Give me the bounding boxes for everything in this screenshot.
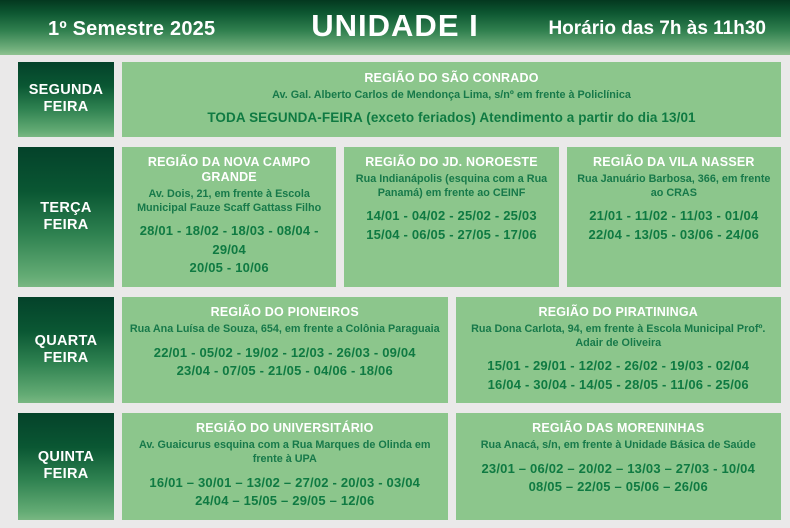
- wednesday-cells: REGIÃO DO PIONEIROS Rua Ana Luísa de Sou…: [122, 297, 781, 404]
- schedule-row-wednesday: QUARTA FEIRA REGIÃO DO PIONEIROS Rua Ana…: [18, 297, 781, 404]
- location-title: REGIÃO DO PIRATININGA: [538, 305, 698, 320]
- location-address: Rua Dona Carlota, 94, em frente à Escola…: [462, 323, 776, 351]
- location-title: REGIÃO DAS MORENINHAS: [532, 421, 704, 436]
- location-card[interactable]: REGIÃO DAS MORENINHAS Rua Anacá, s/n, em…: [456, 413, 782, 520]
- location-card[interactable]: REGIÃO DA VILA NASSER Rua Januário Barbo…: [567, 147, 781, 287]
- location-note: TODA SEGUNDA-FEIRA (exceto feriados) Ate…: [207, 109, 695, 128]
- location-card[interactable]: REGIÃO DO PIRATININGA Rua Dona Carlota, …: [456, 297, 782, 404]
- location-title: REGIÃO DO PIONEIROS: [211, 305, 359, 320]
- location-title: REGIÃO DO UNIVERSITÁRIO: [196, 421, 374, 436]
- location-card[interactable]: REGIÃO DO JD. NOROESTE Rua Indianápolis …: [344, 147, 558, 287]
- dates-line: 23/04 - 07/05 - 21/05 - 04/06 - 18/06: [154, 362, 416, 380]
- location-address: Av. Guaicurus esquina com a Rua Marques …: [128, 439, 442, 467]
- dates-line: 23/01 – 06/02 – 20/02 – 13/03 – 27/03 - …: [481, 460, 755, 478]
- dates-line: 15/04 - 06/05 - 27/05 - 17/06: [366, 226, 537, 244]
- location-address: Rua Ana Luísa de Souza, 654, em frente a…: [130, 323, 440, 337]
- location-card[interactable]: REGIÃO DO SÃO CONRADO Av. Gal. Alberto C…: [122, 62, 781, 137]
- schedule-row-tuesday: TERÇA FEIRA REGIÃO DA NOVA CAMPO GRANDE …: [18, 147, 781, 287]
- location-dates: 23/01 – 06/02 – 20/02 – 13/03 – 27/03 - …: [481, 460, 755, 497]
- location-dates: 16/01 – 30/01 – 13/02 – 27/02 - 20/03 - …: [149, 474, 420, 511]
- day-label-line1: QUARTA: [35, 333, 98, 350]
- location-title: REGIÃO DO JD. NOROESTE: [365, 155, 537, 170]
- dates-line: 14/01 - 04/02 - 25/02 - 25/03: [366, 207, 537, 225]
- location-address: Rua Indianápolis (esquina com a Rua Pana…: [350, 173, 552, 201]
- day-label-line2: FEIRA: [44, 99, 89, 116]
- hours-label: Horário das 7h às 11h30: [548, 18, 766, 40]
- location-dates: 14/01 - 04/02 - 25/02 - 25/03 15/04 - 06…: [366, 207, 537, 244]
- location-address: Rua Anacá, s/n, em frente à Unidade Bási…: [481, 439, 756, 453]
- location-card[interactable]: REGIÃO DO UNIVERSITÁRIO Av. Guaicurus es…: [122, 413, 448, 520]
- day-label-monday: SEGUNDA FEIRA: [18, 62, 114, 137]
- dates-line: 20/05 - 10/06: [128, 259, 330, 277]
- dates-line: 21/01 - 11/02 - 11/03 - 01/04: [589, 207, 760, 225]
- schedule-row-monday: SEGUNDA FEIRA REGIÃO DO SÃO CONRADO Av. …: [18, 62, 781, 137]
- location-card[interactable]: REGIÃO DO PIONEIROS Rua Ana Luísa de Sou…: [122, 297, 448, 404]
- day-label-line2: FEIRA: [44, 466, 89, 483]
- location-card[interactable]: REGIÃO DA NOVA CAMPO GRANDE Av. Dois, 21…: [122, 147, 336, 287]
- day-label-line1: TERÇA: [40, 200, 91, 217]
- dates-line: 22/01 - 05/02 - 19/02 - 12/03 - 26/03 - …: [154, 344, 416, 362]
- location-dates: 21/01 - 11/02 - 11/03 - 01/04 22/04 - 13…: [589, 207, 760, 244]
- day-label-thursday: QUINTA FEIRA: [18, 413, 114, 520]
- location-address: Av. Dois, 21, em frente à Escola Municip…: [128, 188, 330, 216]
- location-title: REGIÃO DO SÃO CONRADO: [364, 71, 538, 86]
- dates-line: 16/04 - 30/04 - 14/05 - 28/05 - 11/06 - …: [487, 376, 749, 394]
- page-header-banner: 1º Semestre 2025 UNIDADE I Horário das 7…: [0, 0, 790, 55]
- schedule-grid: SEGUNDA FEIRA REGIÃO DO SÃO CONRADO Av. …: [0, 55, 790, 528]
- day-label-wednesday: QUARTA FEIRA: [18, 297, 114, 404]
- day-label-line2: FEIRA: [44, 350, 89, 367]
- dates-line: 22/04 - 13/05 - 03/06 - 24/06: [589, 226, 760, 244]
- dates-line: 08/05 – 22/05 – 05/06 – 26/06: [481, 478, 755, 496]
- location-address: Av. Gal. Alberto Carlos de Mendonça Lima…: [272, 89, 631, 103]
- schedule-row-thursday: QUINTA FEIRA REGIÃO DO UNIVERSITÁRIO Av.…: [18, 413, 781, 520]
- tuesday-cells: REGIÃO DA NOVA CAMPO GRANDE Av. Dois, 21…: [122, 147, 781, 287]
- thursday-cells: REGIÃO DO UNIVERSITÁRIO Av. Guaicurus es…: [122, 413, 781, 520]
- dates-line: 16/01 – 30/01 – 13/02 – 27/02 - 20/03 - …: [149, 474, 420, 492]
- location-dates: 15/01 - 29/01 - 12/02 - 26/02 - 19/03 - …: [487, 357, 749, 394]
- dates-line: 15/01 - 29/01 - 12/02 - 26/02 - 19/03 - …: [487, 357, 749, 375]
- location-dates: 28/01 - 18/02 - 18/03 - 08/04 - 29/04 20…: [128, 222, 330, 277]
- day-label-tuesday: TERÇA FEIRA: [18, 147, 114, 287]
- day-label-line1: SEGUNDA: [29, 82, 104, 99]
- location-title: REGIÃO DA NOVA CAMPO GRANDE: [128, 155, 330, 185]
- monday-cells: REGIÃO DO SÃO CONRADO Av. Gal. Alberto C…: [122, 62, 781, 137]
- dates-line: 28/01 - 18/02 - 18/03 - 08/04 - 29/04: [128, 222, 330, 259]
- location-address: Rua Januário Barbosa, 366, em frente ao …: [573, 173, 775, 201]
- location-dates: 22/01 - 05/02 - 19/02 - 12/03 - 26/03 - …: [154, 344, 416, 381]
- dates-line: 24/04 – 15/05 – 29/05 – 12/06: [149, 492, 420, 510]
- day-label-line2: FEIRA: [44, 217, 89, 234]
- location-title: REGIÃO DA VILA NASSER: [593, 155, 755, 170]
